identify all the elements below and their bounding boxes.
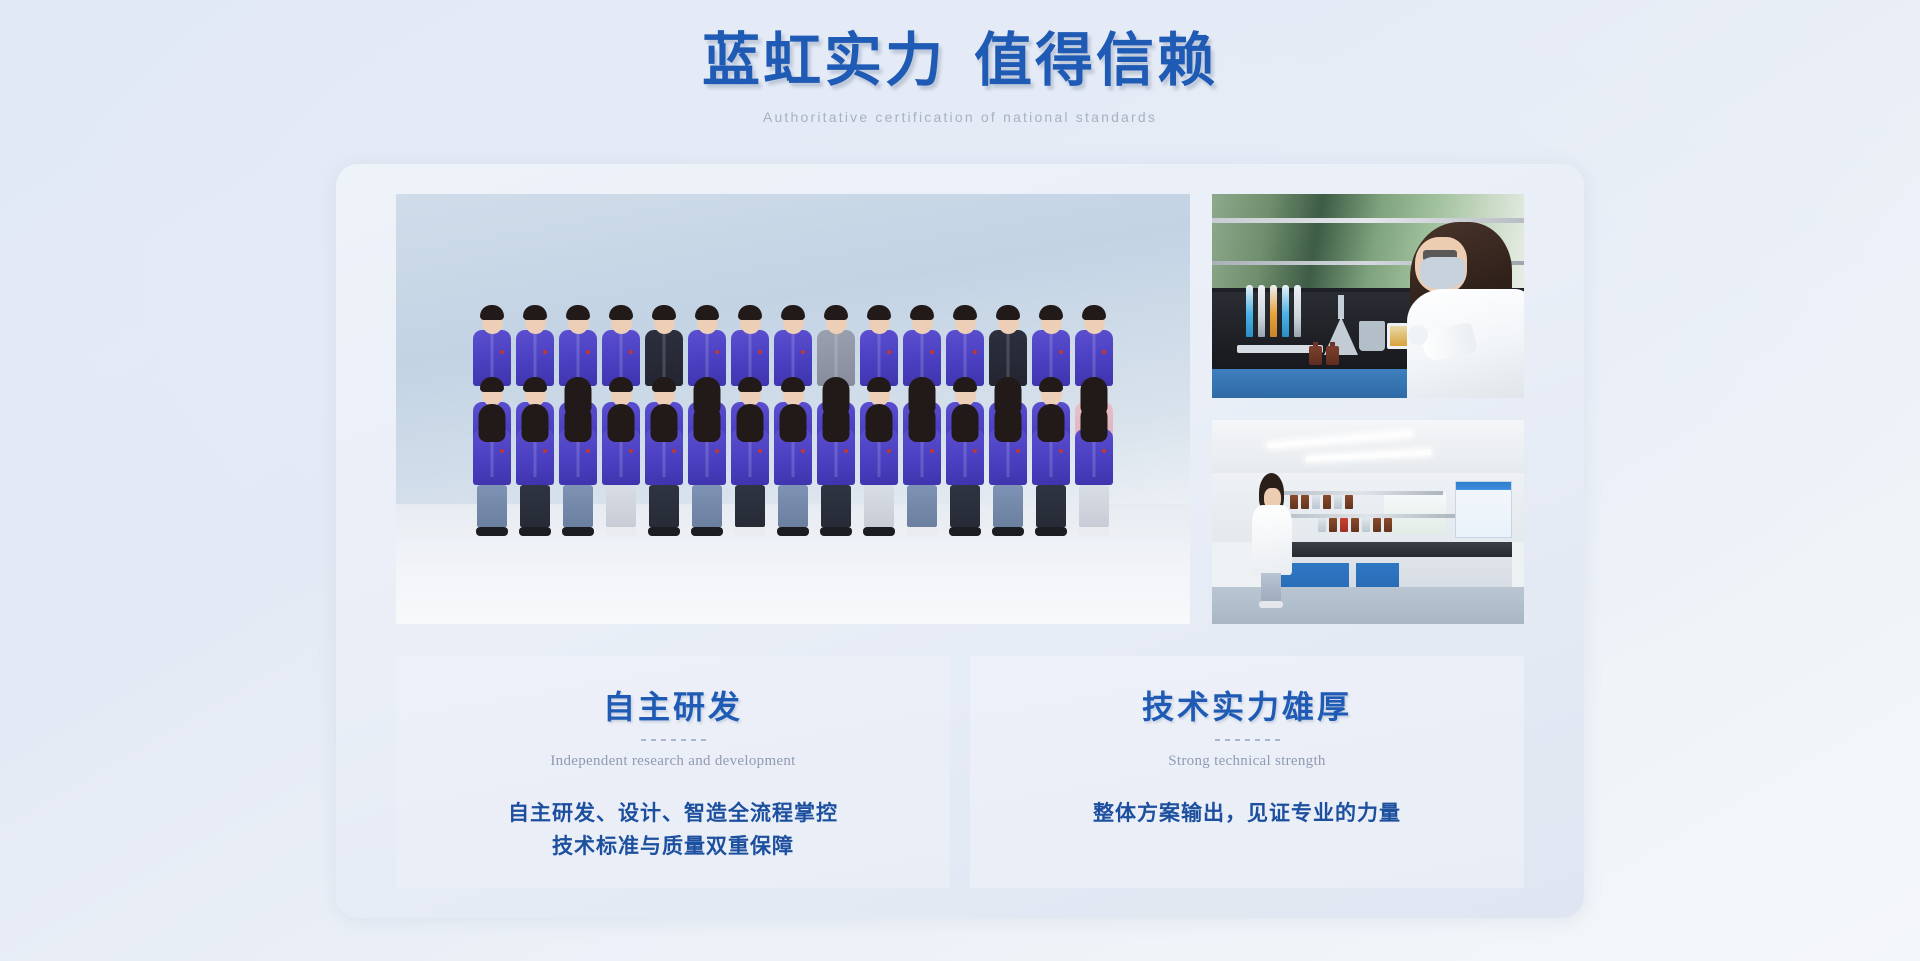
lab-safety-poster <box>1455 481 1511 538</box>
lab-room-benchtop <box>1262 542 1512 556</box>
group-photo-people <box>396 286 1190 536</box>
media-gallery <box>396 194 1524 624</box>
reagent-bottles-lower <box>1318 518 1392 532</box>
person <box>644 309 684 386</box>
lab-technician-bench-photo <box>1212 194 1524 398</box>
person <box>988 309 1028 386</box>
lab-room-scene <box>1212 420 1524 624</box>
page-title: 蓝虹实力值得信赖 <box>0 28 1920 95</box>
face-mask-icon <box>1420 257 1465 289</box>
person <box>1074 309 1114 386</box>
content-panel: 自主研发 Independent research and developmen… <box>336 164 1584 918</box>
person <box>515 309 555 386</box>
pipette-set <box>1246 285 1301 337</box>
lab-bench-scene <box>1212 194 1524 398</box>
people-row-back <box>396 309 1190 386</box>
person <box>472 309 512 386</box>
feature-card-subtitle: Strong technical strength <box>1168 753 1325 770</box>
person <box>601 309 641 386</box>
team-group-photo <box>396 194 1190 624</box>
person <box>902 309 942 386</box>
dotted-divider <box>641 739 706 741</box>
lab-coat <box>1252 505 1292 575</box>
page-title-part1: 蓝虹实力 <box>702 28 946 93</box>
person <box>558 309 598 386</box>
reagent-bottles-upper <box>1290 495 1353 509</box>
dotted-divider <box>1215 739 1280 741</box>
feature-card-body: 自主研发、设计、智造全流程掌控 技术标准与质量双重保障 <box>508 797 838 862</box>
feature-card-rnd: 自主研发 Independent research and developmen… <box>396 656 950 888</box>
feature-card-title: 自主研发 <box>603 682 743 728</box>
person <box>773 309 813 386</box>
feature-card-body-line: 技术标准与质量双重保障 <box>508 830 838 863</box>
feature-cards: 自主研发 Independent research and developmen… <box>396 656 1524 888</box>
laboratory-room-photo <box>1212 420 1524 624</box>
person <box>1031 309 1071 386</box>
feature-card-body-line: 自主研发、设计、智造全流程掌控 <box>508 797 838 830</box>
person <box>687 309 727 386</box>
lab-ceiling-lights <box>1212 420 1524 473</box>
technician-trousers <box>1261 573 1281 603</box>
side-photo-column <box>1212 194 1524 624</box>
person <box>945 309 985 386</box>
beaker <box>1359 321 1385 351</box>
feature-card-body-line: 整体方案输出，见证专业的力量 <box>1093 797 1401 830</box>
page-title-part2: 值得信赖 <box>974 28 1218 93</box>
amber-reagent-bottles <box>1309 346 1339 365</box>
person <box>859 309 899 386</box>
page-subtitle: Authoritative certification of national … <box>0 109 1920 125</box>
lab-room-technician <box>1249 473 1293 608</box>
feature-card-technical-strength: 技术实力雄厚 Strong technical strength 整体方案输出，… <box>970 656 1524 888</box>
feature-card-body: 整体方案输出，见证专业的力量 <box>1093 797 1401 830</box>
person <box>730 309 770 386</box>
feature-card-subtitle: Independent research and development <box>550 753 795 770</box>
page-header: 蓝虹实力值得信赖 Authoritative certification of … <box>0 0 1920 125</box>
technician-shoes <box>1259 601 1283 608</box>
feature-card-title: 技术实力雄厚 <box>1142 682 1352 728</box>
lab-technician <box>1399 210 1524 398</box>
person <box>816 309 856 386</box>
